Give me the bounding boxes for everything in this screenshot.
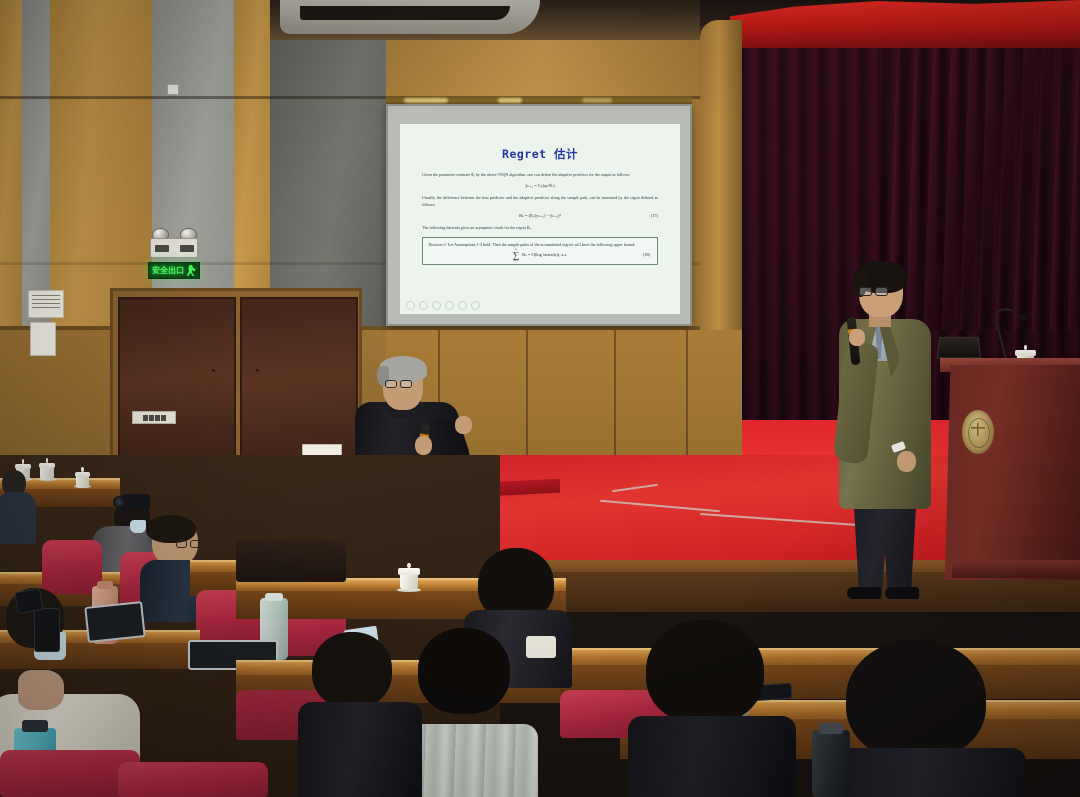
speaker-left-hand-mic: [415, 436, 432, 455]
speaker-left-hand-raised: [455, 416, 472, 434]
seat: [118, 762, 268, 797]
podium-microphone-head: [1018, 314, 1027, 320]
theorem-box: Theorem 2: Let Assumptions 1-3 hold. The…: [422, 237, 658, 265]
summation-upper: n: [515, 248, 517, 251]
auditorium-photograph: 安全出口 Regret 估计 Given the parameter estim…: [0, 0, 1080, 797]
equation-regret-text: Rₖ = (Eₖ[yₖ₊₁] − ŷₖ₊₁)²: [519, 213, 561, 218]
forward-icon[interactable]: [419, 301, 428, 310]
podium: [945, 365, 1080, 580]
seat-back-shadow: [236, 540, 346, 582]
thermos-bottle: [812, 730, 850, 797]
pen-icon[interactable]: [432, 301, 441, 310]
theorem-formula-body: Rₖ = O(log λmax(n)), a.s.: [522, 252, 567, 258]
projection-screen: Regret 估计 Given the parameter estimate θ…: [386, 104, 692, 326]
speaker-right: [835, 265, 935, 595]
door-right[interactable]: [240, 297, 358, 480]
summation-lower: k=1: [514, 259, 519, 262]
back-icon[interactable]: [406, 301, 415, 310]
smartphone: [14, 588, 43, 614]
door-left[interactable]: [118, 297, 236, 480]
exit-sign: 安全出口: [148, 262, 200, 279]
light-switch[interactable]: [167, 84, 179, 95]
audience-member: [304, 632, 414, 797]
summation-symbol: ∑ n k=1: [513, 251, 519, 259]
equation-regret-tag: (17): [651, 213, 658, 218]
speaker-right-hand-mic: [849, 329, 865, 346]
audience-member: [830, 640, 1010, 797]
speaker-right-trousers: [849, 495, 921, 595]
audience-member: [0, 470, 34, 540]
slide-equation-regret: Rₖ = (Eₖ[yₖ₊₁] − ŷₖ₊₁)² (17): [422, 213, 658, 219]
wall-notice-lower: [30, 322, 56, 356]
door-notice-plate: [132, 411, 176, 424]
podium-base: [952, 560, 1080, 578]
more-icon[interactable]: [471, 301, 480, 310]
teacup: [400, 566, 418, 592]
wall-notice-upper: [28, 290, 64, 318]
hand: [18, 670, 64, 710]
speaker-right-shoe-right: [885, 587, 919, 599]
eyeglasses-icon: [859, 287, 893, 296]
theorem-formula-tag: (18): [643, 252, 650, 257]
podium-laptop[interactable]: [937, 337, 982, 359]
speaker-right-shoe-left: [847, 587, 881, 599]
eyeglasses-icon: [385, 380, 417, 388]
proscenium-arch: [700, 20, 742, 350]
theorem-formula: ∑ n k=1 Rₖ = O(log λmax(n)), a.s. (18): [428, 251, 652, 259]
university-crest-icon: [962, 410, 994, 454]
slide-surface: Regret 估计 Given the parameter estimate θ…: [400, 124, 680, 314]
stamp-icon[interactable]: [445, 301, 454, 310]
slide-equation-predictor: ŷₖ₊₁ = Cₖ(φₖ'θ̂ₖ): [422, 183, 658, 189]
teacup: [76, 470, 89, 488]
exit-sign-text: 安全出口: [152, 265, 184, 276]
speaker-right-hand-lower: [897, 451, 916, 472]
tablet: [84, 601, 145, 643]
slide-paragraph-1: Given the parameter estimate θ̂ₖ by the …: [422, 172, 658, 178]
running-person-icon: [186, 265, 196, 276]
pdf-reader-toolbar[interactable]: [406, 301, 480, 310]
slide-title: Regret 估计: [400, 146, 680, 162]
slide-paragraph-3: The following theorem gives an asymptoti…: [422, 225, 658, 231]
audience-member: [628, 620, 788, 797]
ceiling-recess: [300, 6, 510, 20]
auditorium-doors[interactable]: [110, 288, 362, 483]
zoom-icon[interactable]: [458, 301, 467, 310]
theorem-label: Theorem 2:: [428, 242, 447, 247]
camera: [122, 494, 150, 510]
jacket-logo: [526, 636, 556, 658]
slide-paragraph-2: Usually, the difference between the best…: [422, 195, 658, 208]
emergency-light-unit: [150, 238, 198, 258]
audience-member: [404, 628, 524, 797]
smartphone: [34, 608, 60, 652]
teacup: [40, 461, 54, 481]
theorem-text: Let Assumptions 1-3 hold. Then the sampl…: [448, 242, 635, 247]
